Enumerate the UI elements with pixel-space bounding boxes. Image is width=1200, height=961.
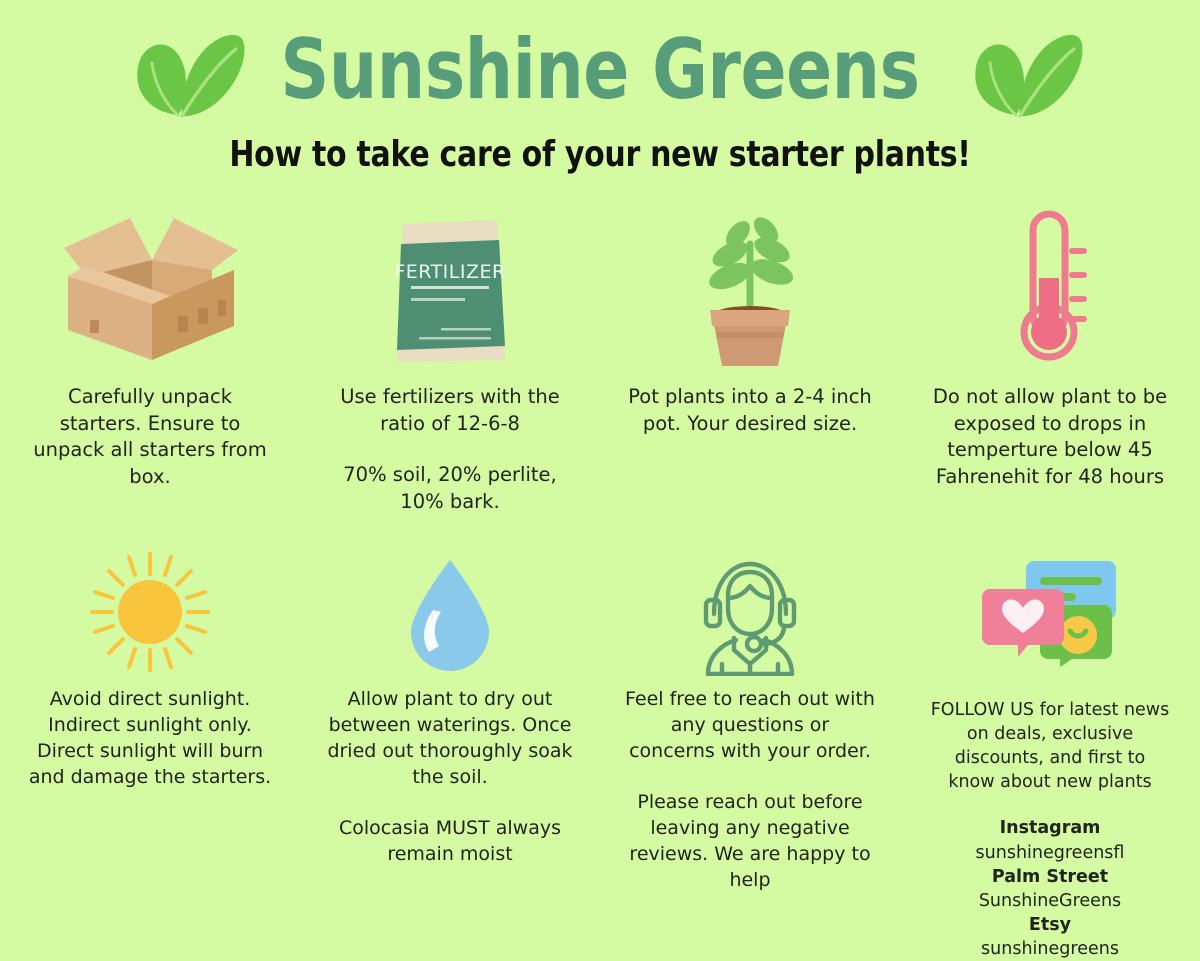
page-title: Sunshine Greens: [280, 30, 919, 113]
icon-container: [980, 546, 1120, 676]
tip-card-unpack: Carefully unpack starters. Ensure to unp…: [0, 200, 300, 516]
tips-row-2: Avoid direct sunlight. Indirect sunlight…: [0, 546, 1200, 961]
fertilizer-bag-icon: FERTILIZER: [389, 210, 511, 370]
icon-container: [684, 546, 816, 676]
fertilizer-label: FERTILIZER: [394, 261, 505, 283]
tip-card-watering: Allow plant to dry out between waterings…: [300, 546, 600, 961]
account-platform: Etsy: [930, 913, 1170, 937]
thermometer-icon: [995, 204, 1105, 370]
icon-container: [995, 200, 1105, 370]
account-handle: SunshineGreens: [930, 889, 1170, 913]
open-cardboard-box-icon: [52, 204, 248, 370]
tip-card-fertilizer: FERTILIZER Use fertilizers with the rati…: [300, 200, 600, 516]
icon-container: [85, 546, 215, 676]
tip-caption: Do not allow plant to be exposed to drop…: [925, 384, 1175, 491]
tip-caption: Allow plant to dry out between waterings…: [325, 686, 575, 867]
icon-container: [680, 200, 820, 370]
header: Sunshine Greens How to take care of your…: [0, 0, 1200, 192]
tip-card-temperature: Do not allow plant to be exposed to drop…: [900, 200, 1200, 516]
tip-caption: Avoid direct sunlight. Indirect sunlight…: [25, 686, 275, 790]
tip-card-follow-us: FOLLOW US for latest news on deals, excl…: [900, 546, 1200, 961]
account-platform: Palm Street: [930, 865, 1170, 889]
tip-card-sunlight: Avoid direct sunlight. Indirect sunlight…: [0, 546, 300, 961]
sun-icon: [85, 548, 215, 676]
page-subtitle: How to take care of your new starter pla…: [0, 134, 1200, 175]
potted-plant-icon: [680, 210, 820, 370]
icon-container: [52, 200, 248, 370]
icon-container: FERTILIZER: [389, 200, 511, 370]
account-handle: sunshinegreensfl: [930, 841, 1170, 865]
speech-bubbles-icon: [980, 555, 1120, 667]
account-handle: sunshinegreens: [930, 937, 1170, 961]
tip-card-support: Feel free to reach out with any question…: [600, 546, 900, 961]
tips-row-1: Carefully unpack starters. Ensure to unp…: [0, 200, 1200, 516]
tip-caption: Carefully unpack starters. Ensure to unp…: [25, 384, 275, 491]
follow-us-text: FOLLOW US for latest news on deals, excl…: [930, 698, 1170, 961]
leaves-icon: [954, 19, 1084, 124]
title-row: Sunshine Greens: [0, 0, 1200, 128]
follow-us-lede: FOLLOW US for latest news on deals, excl…: [930, 698, 1170, 795]
tip-card-potting: Pot plants into a 2-4 inch pot. Your des…: [600, 200, 900, 516]
tip-caption: Use fertilizers with the ratio of 12-6-8…: [325, 384, 575, 516]
leaves-icon: [116, 19, 246, 124]
customer-support-agent-icon: [684, 552, 816, 676]
tip-caption: Feel free to reach out with any question…: [625, 686, 875, 893]
water-droplet-icon: [403, 554, 497, 676]
account-platform: Instagram: [930, 816, 1170, 840]
icon-container: [403, 546, 497, 676]
tip-caption: Pot plants into a 2-4 inch pot. Your des…: [625, 384, 875, 437]
